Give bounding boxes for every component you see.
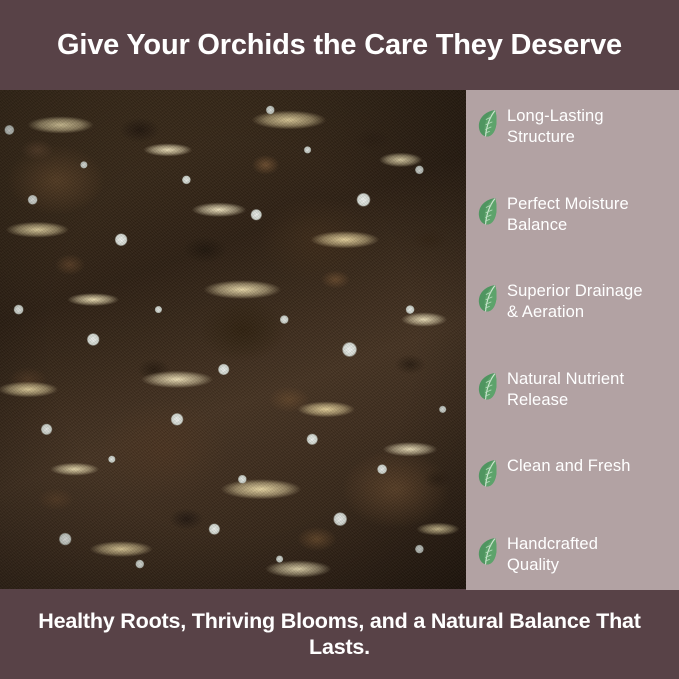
- feature-item: Superior Drainage & Aeration: [476, 281, 679, 323]
- photo-vignette-overlay: [0, 90, 466, 589]
- leaf-icon: [476, 371, 498, 401]
- feature-item: Handcrafted Quality: [476, 534, 679, 576]
- product-photo: [0, 90, 466, 589]
- leaf-icon: [476, 196, 498, 226]
- feature-item-label: Clean and Fresh: [507, 456, 631, 477]
- leaf-icon: [476, 536, 498, 566]
- leaf-icon: [476, 283, 498, 313]
- feature-item-label: Perfect Moisture Balance: [507, 194, 629, 236]
- leaf-icon: [476, 458, 498, 488]
- header-banner: Give Your Orchids the Care They Deserve: [0, 0, 679, 90]
- feature-item-label: Natural Nutrient Release: [507, 369, 624, 411]
- leaf-icon: [476, 108, 498, 138]
- footer-banner: Healthy Roots, Thriving Blooms, and a Na…: [0, 590, 679, 679]
- feature-item: Natural Nutrient Release: [476, 369, 679, 411]
- footer-tagline: Healthy Roots, Thriving Blooms, and a Na…: [26, 609, 653, 661]
- feature-item-label: Superior Drainage & Aeration: [507, 281, 643, 323]
- feature-item-label: Long-Lasting Structure: [507, 106, 604, 148]
- page-title: Give Your Orchids the Care They Deserve: [57, 29, 622, 61]
- product-feature-poster: Give Your Orchids the Care They Deserve …: [0, 0, 679, 679]
- feature-list: Long-Lasting Structure Perfect Moisture …: [466, 90, 679, 590]
- feature-item: Long-Lasting Structure: [476, 106, 679, 148]
- feature-item: Perfect Moisture Balance: [476, 194, 679, 236]
- feature-item-label: Handcrafted Quality: [507, 534, 598, 576]
- feature-item: Clean and Fresh: [476, 456, 679, 488]
